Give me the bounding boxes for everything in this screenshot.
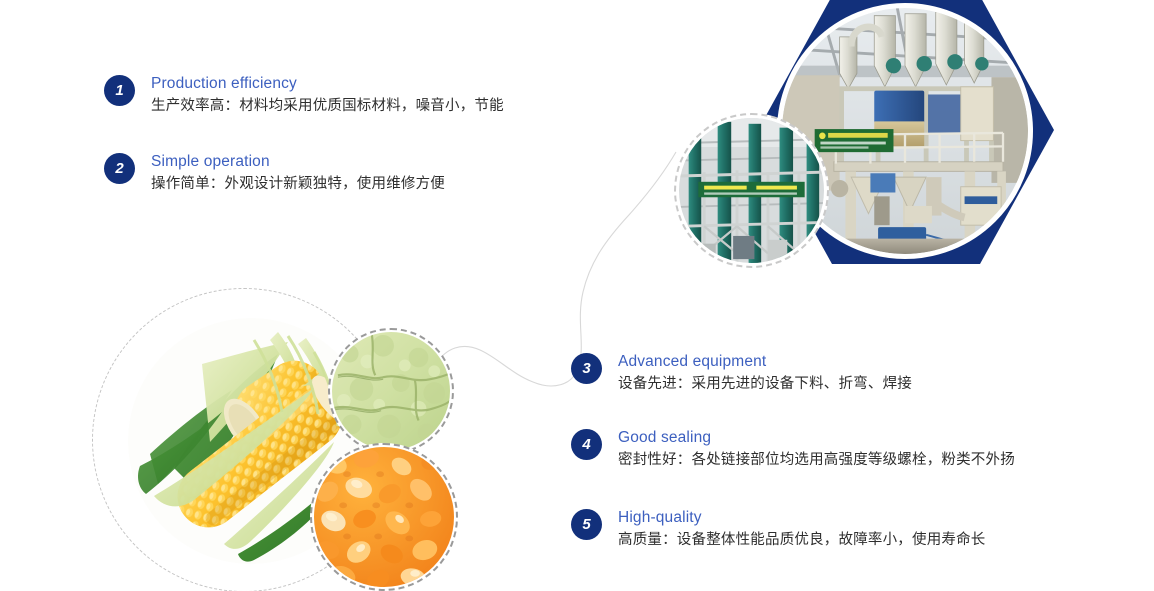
- feature-text-4: Good sealing 密封性好：各处链接部位均选用高强度等级螺栓，粉类不外扬: [618, 428, 1015, 471]
- feature-title-3: Advanced equipment: [618, 352, 912, 372]
- feature-item-4: 4 Good sealing 密封性好：各处链接部位均选用高强度等级螺栓，粉类不…: [571, 428, 1015, 471]
- feature-item-5: 5 High-quality 高质量：设备整体性能品质优良，故障率小，使用寿命长: [571, 508, 986, 551]
- feature-item-2: 2 Simple operation 操作简单：外观设计新颖独特，使用维修方便: [104, 152, 445, 195]
- green-corn-paste-image: [332, 332, 450, 450]
- feature-desc-4: 密封性好：各处链接部位均选用高强度等级螺栓，粉类不外扬: [618, 449, 1015, 471]
- feature-item-3: 3 Advanced equipment 设备先进：采用先进的设备下料、折弯、焊…: [571, 352, 912, 395]
- feature-text-5: High-quality 高质量：设备整体性能品质优良，故障率小，使用寿命长: [618, 508, 986, 551]
- feature-text-1: Production efficiency 生产效率高：材料均采用优质国标材料，…: [151, 74, 504, 117]
- teal-milling-machinery-photo: [674, 113, 829, 268]
- feature-badge-4: 4: [571, 429, 602, 460]
- feature-desc-2: 操作简单：外观设计新颖独特，使用维修方便: [151, 173, 445, 195]
- feature-desc-1: 生产效率高：材料均采用优质国标材料，噪音小，节能: [151, 95, 504, 117]
- green-corn-paste-photo: [328, 328, 454, 454]
- feature-text-3: Advanced equipment 设备先进：采用先进的设备下料、折弯、焊接: [618, 352, 912, 395]
- feature-badge-5: 5: [571, 509, 602, 540]
- feature-title-1: Production efficiency: [151, 74, 504, 94]
- orange-corn-grits-image: [314, 447, 454, 587]
- feature-desc-5: 高质量：设备整体性能品质优良，故障率小，使用寿命长: [618, 529, 986, 551]
- feature-title-2: Simple operation: [151, 152, 445, 172]
- feature-badge-2: 2: [104, 153, 135, 184]
- feature-badge-1: 1: [104, 75, 135, 106]
- feature-desc-3: 设备先进：采用先进的设备下料、折弯、焊接: [618, 373, 912, 395]
- feature-badge-3: 3: [571, 353, 602, 384]
- feature-showcase-page: 1 Production efficiency 生产效率高：材料均采用优质国标材…: [0, 0, 1154, 591]
- feature-title-5: High-quality: [618, 508, 986, 528]
- feature-title-4: Good sealing: [618, 428, 1015, 448]
- feature-text-2: Simple operation 操作简单：外观设计新颖独特，使用维修方便: [151, 152, 445, 195]
- orange-corn-grits-photo: [310, 443, 458, 591]
- feature-item-1: 1 Production efficiency 生产效率高：材料均采用优质国标材…: [104, 74, 504, 117]
- teal-milling-machinery-image: [679, 118, 824, 263]
